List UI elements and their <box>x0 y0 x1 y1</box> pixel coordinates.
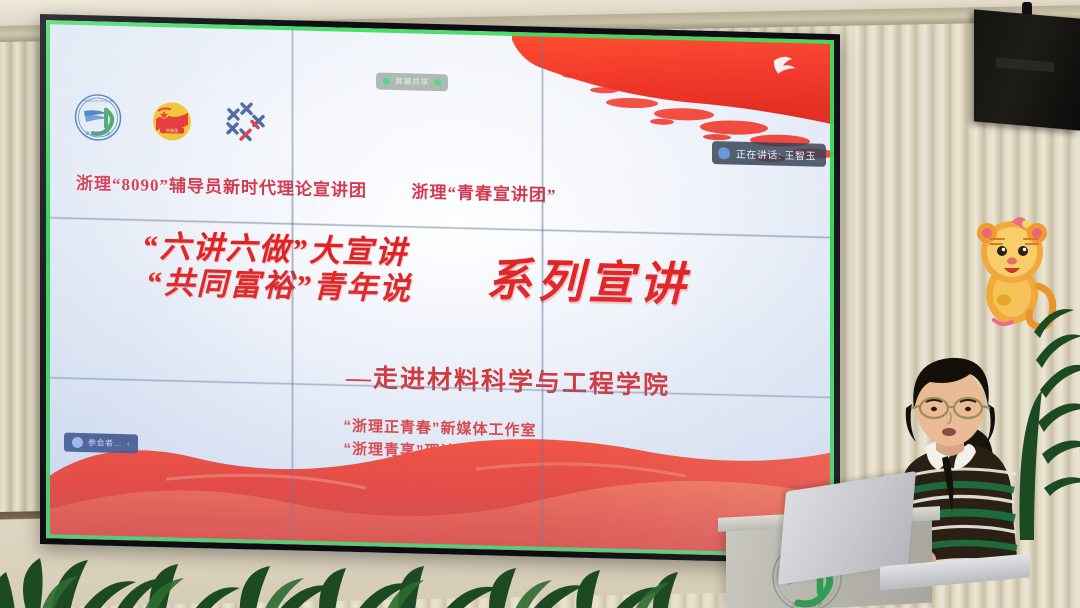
svg-text:浙江理工大学: 浙江理工大学 <box>792 602 822 608</box>
ceiling-mounted-speaker-icon <box>974 9 1080 130</box>
video-wall-screen[interactable]: 浙江理工大学 ZHEJIANG SCI-TECH UNIV 共青团 <box>46 20 834 558</box>
lecture-hall-photo: 浙江理工大学 ZHEJIANG SCI-TECH UNIV 共青团 <box>0 0 1080 608</box>
video-wall[interactable]: 浙江理工大学 ZHEJIANG SCI-TECH UNIV 共青团 <box>40 14 840 564</box>
screen-vignette <box>46 20 834 558</box>
potted-plant-right <box>1010 240 1080 540</box>
potted-plants-foreground <box>0 512 710 608</box>
